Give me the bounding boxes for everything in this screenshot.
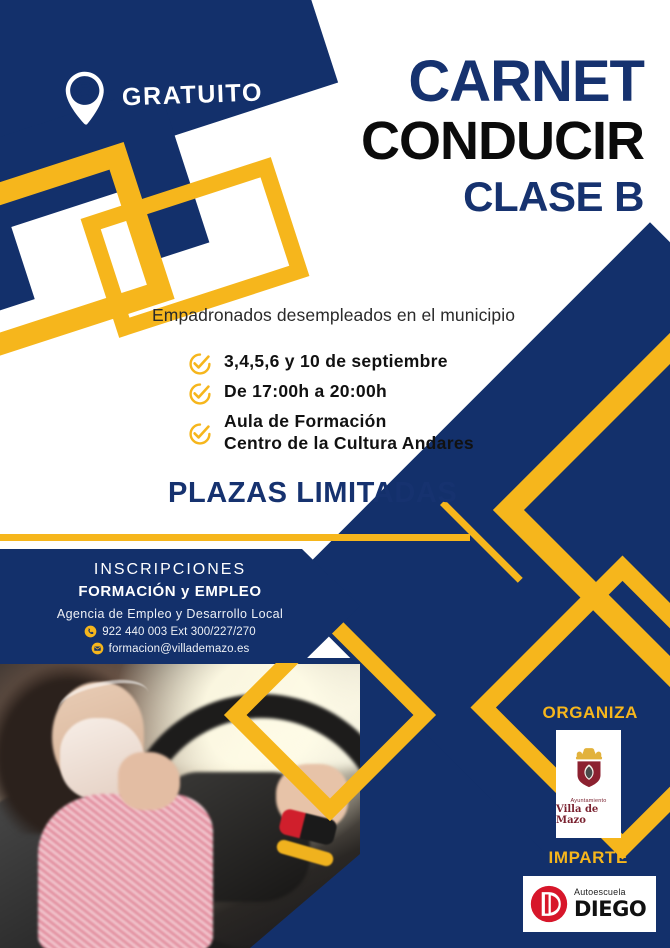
phone-number: 922 440 003 Ext 300/227/270 [102, 626, 256, 638]
envelope-icon [91, 642, 104, 655]
phone-row[interactable]: 922 440 003 Ext 300/227/270 [0, 625, 360, 638]
photo-shirt [38, 794, 213, 948]
organiza-label: ORGANIZA [543, 703, 638, 723]
autoescuela-diego-logo: Autoescuela DIEGO [523, 876, 656, 932]
list-item-label: 3,4,5,6 y 10 de septiembre [224, 351, 448, 371]
list-item-label: De 17:00h a 20:00h [224, 381, 387, 401]
imparte-label: IMPARTE [549, 848, 628, 868]
mazo-logo-name: Villa de Mazo [556, 804, 621, 826]
map-pin-car-icon [61, 70, 109, 128]
list-item: Aula de Formación Centro de la Cultura A… [188, 410, 474, 455]
list-item-label-secondary: Centro de la Cultura Andares [224, 432, 474, 454]
photo-left-hand [118, 752, 180, 810]
title-line-2: CONDUCIR [214, 113, 644, 170]
plazas-limitadas-text: PLAZAS LIMITADAS [168, 477, 457, 510]
check-circle-icon [188, 352, 212, 376]
check-circle-icon [188, 422, 212, 446]
diego-d-icon [529, 884, 569, 924]
poster-title-block: CARNET CONDUCIR CLASE B [214, 52, 644, 220]
villa-de-mazo-logo: Ayuntamiento Villa de Mazo [556, 730, 621, 838]
title-line-1: CARNET [214, 52, 644, 111]
inscriptions-agency: Agencia de Empleo y Desarrollo Local [0, 607, 360, 621]
coat-of-arms-icon [566, 743, 612, 795]
check-circle-icon [188, 382, 212, 406]
diego-kicker: Autoescuela [574, 888, 646, 897]
phone-icon [84, 625, 97, 638]
list-item: 3,4,5,6 y 10 de septiembre [188, 350, 474, 376]
inscriptions-banner: INSCRIPCIONES FORMACIÓN y EMPLEO Agencia… [0, 549, 360, 663]
list-item-label: Aula de Formación [224, 410, 474, 432]
email-address: formacion@villademazo.es [109, 643, 250, 655]
email-row[interactable]: formacion@villademazo.es [0, 642, 360, 655]
poster-root: GRATUITO CARNET CONDUCIR CLASE B Empadro… [0, 0, 670, 948]
yellow-horizontal-rule [0, 534, 470, 541]
inscriptions-title: INSCRIPCIONES [0, 561, 360, 579]
diego-name: DIEGO [574, 899, 646, 920]
inscriptions-subtitle: FORMACIÓN y EMPLEO [0, 583, 360, 600]
title-line-3: CLASE B [214, 174, 644, 220]
diego-text-block: Autoescuela DIEGO [574, 888, 646, 920]
list-item: De 17:00h a 20:00h [188, 380, 474, 406]
details-list: 3,4,5,6 y 10 de septiembre De 17:00h a 2… [188, 350, 474, 459]
poster-subtitle: Empadronados desempleados en el municipi… [152, 305, 515, 326]
